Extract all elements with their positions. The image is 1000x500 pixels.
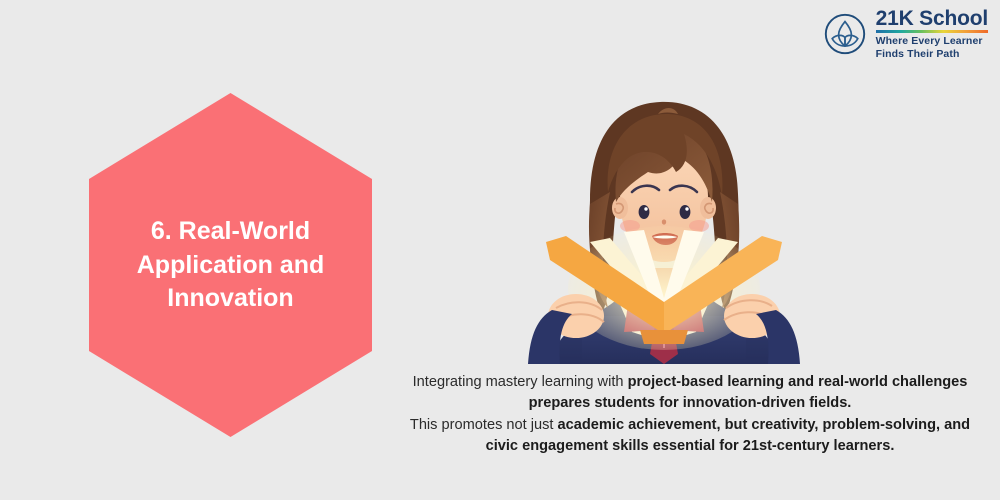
hexagon-callout: 6. Real-World Application and Innovation <box>89 93 372 437</box>
brand-tagline-line-1: Where Every Learner <box>876 35 988 47</box>
brand-logo-text: 21K School Where Every Learner Finds The… <box>876 8 988 60</box>
description-text: Integrating mastery learning with projec… <box>400 372 980 458</box>
brand-tagline-line-2: Finds Their Path <box>876 48 988 60</box>
paragraph-2-bold: academic achievement, but creativity, pr… <box>486 417 970 454</box>
brand-logo: 21K School Where Every Learner Finds The… <box>823 8 988 60</box>
brand-wordmark: 21K School <box>876 8 988 29</box>
lotus-in-circle-icon <box>823 12 867 56</box>
brand-gradient-rule <box>876 30 988 33</box>
student-girl-reading-open-book-illustration <box>520 80 850 370</box>
hexagon-title: 6. Real-World Application and Innovation <box>89 215 372 316</box>
paragraph-1-plain: Integrating mastery learning with <box>413 374 628 390</box>
description-paragraph-1: Integrating mastery learning with projec… <box>400 372 980 415</box>
paragraph-2-plain: This promotes not just <box>410 417 558 433</box>
description-paragraph-2: This promotes not just academic achievem… <box>400 415 980 458</box>
